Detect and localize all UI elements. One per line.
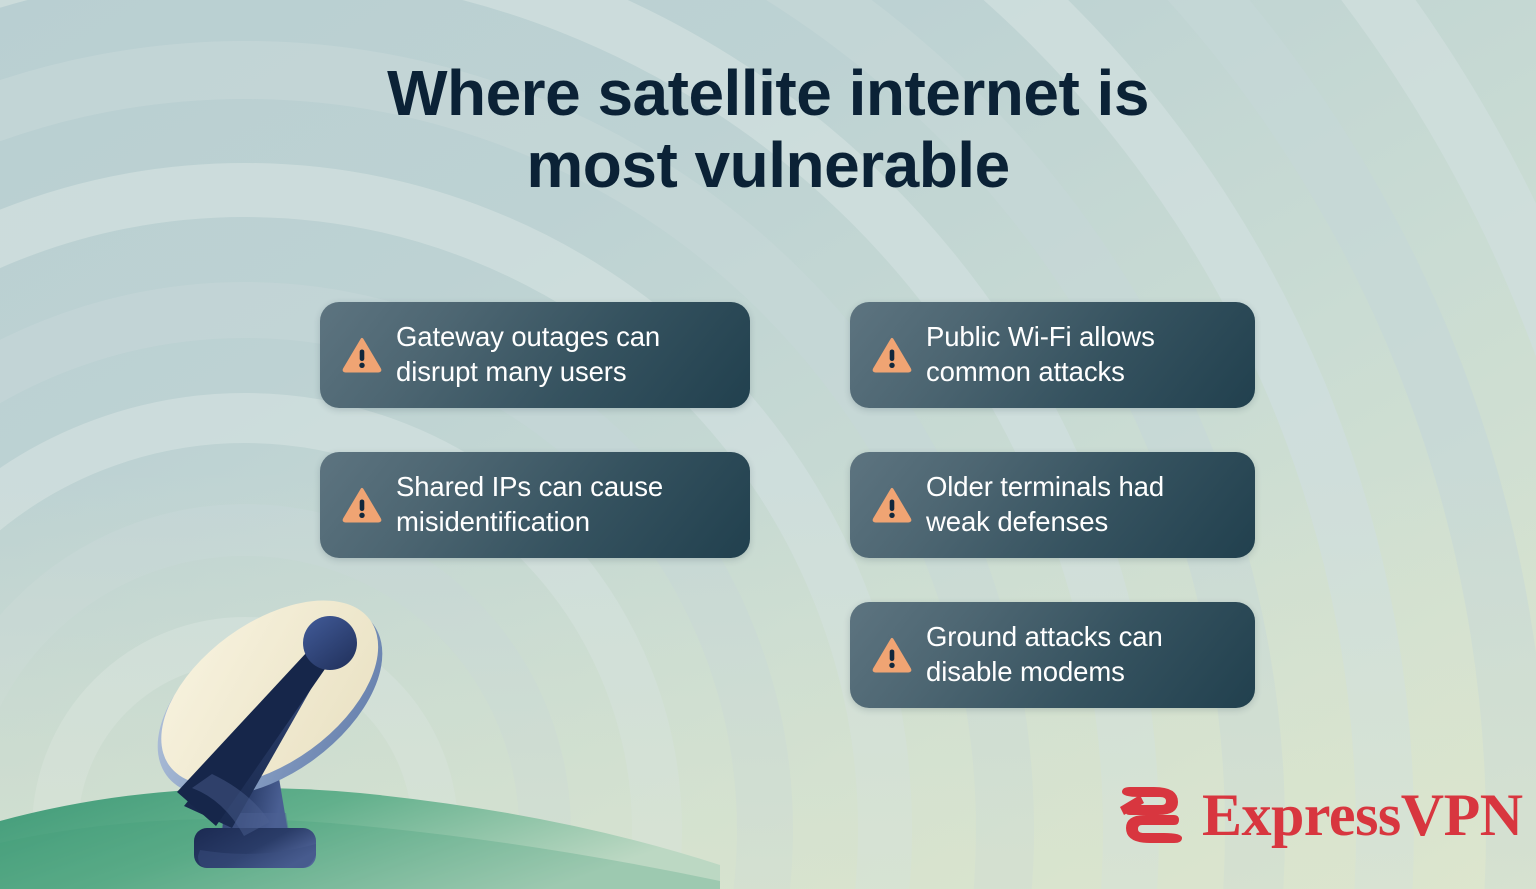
card-text: Public Wi-Fi allows common attacks [926,320,1155,389]
vulnerability-card: Shared IPs can cause misidentification [320,452,750,558]
vulnerability-card: Gateway outages can disrupt many users [320,302,750,408]
satellite-dish-illustration [120,560,420,889]
warning-triangle-icon [872,485,912,525]
expressvpn-e-mark-icon [1118,785,1186,845]
warning-triangle-icon [342,485,382,525]
vulnerability-card: Ground attacks can disable modems [850,602,1255,708]
warning-triangle-icon [342,335,382,375]
expressvpn-wordmark: ExpressVPN [1202,785,1523,845]
card-text: Ground attacks can disable modems [926,620,1163,689]
warning-triangle-icon [872,635,912,675]
infographic-canvas: Where satellite internet is most vulnera… [0,0,1536,889]
card-text: Gateway outages can disrupt many users [396,320,660,389]
card-text: Shared IPs can cause misidentification [396,470,663,539]
warning-triangle-icon [872,335,912,375]
expressvpn-logo: ExpressVPN [1118,778,1523,852]
vulnerability-card: Public Wi-Fi allows common attacks [850,302,1255,408]
page-title: Where satellite internet is most vulnera… [0,58,1536,201]
card-text: Older terminals had weak defenses [926,470,1164,539]
vulnerability-card: Older terminals had weak defenses [850,452,1255,558]
